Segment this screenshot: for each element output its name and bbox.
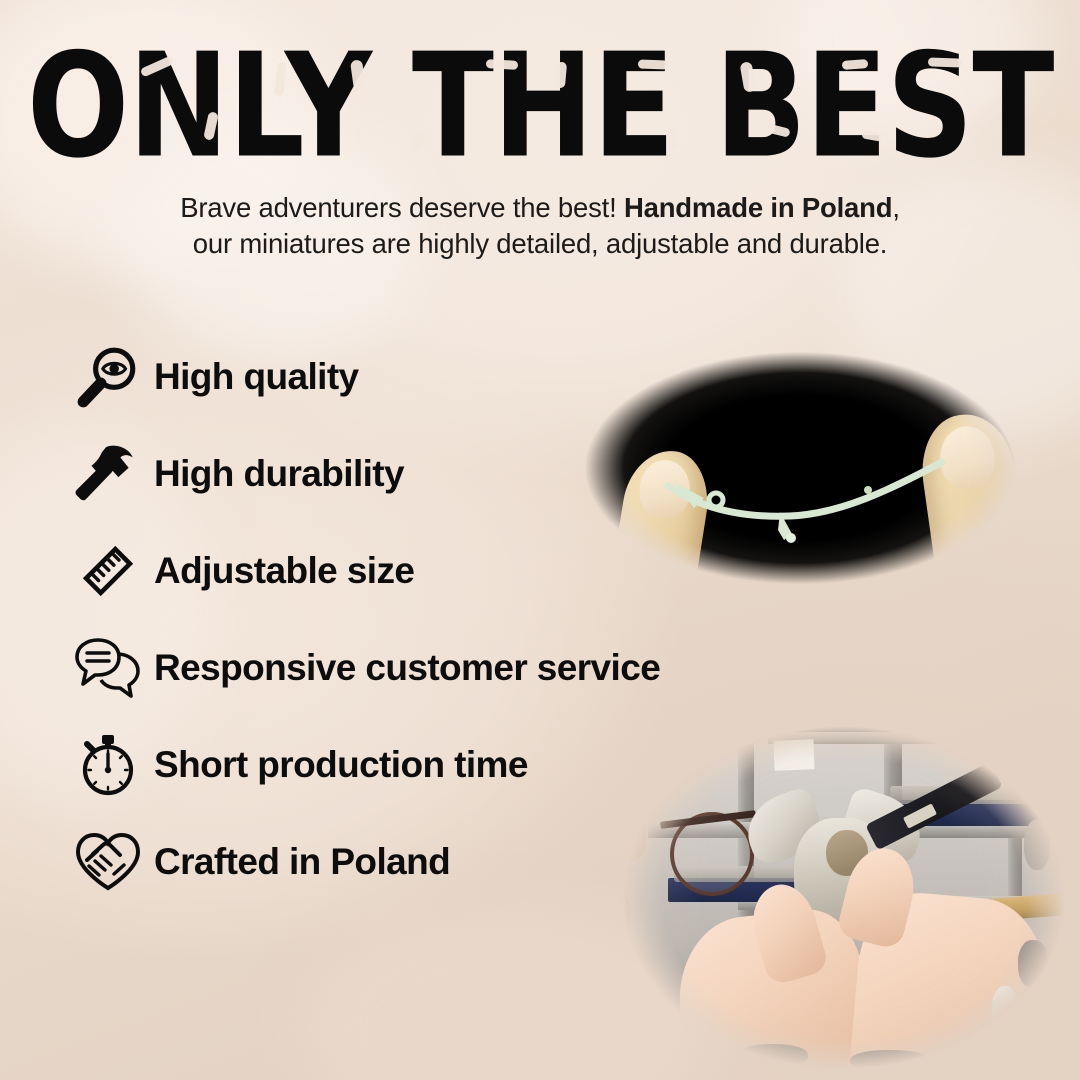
feature-label: Crafted in Poland [154,841,450,883]
feature-label: Short production time [154,744,528,786]
feature-label: Adjustable size [154,550,414,592]
page-title: ONLY THE BEST [27,36,1054,177]
miniature-parts [770,700,890,714]
feature-item-high-durability[interactable]: High durability [62,425,782,522]
feature-item-customer-service[interactable]: Responsive customer service [62,619,782,716]
promo-poster: ONLY THE BEST Brave adventurers deserve … [0,0,1080,1080]
subtitle-highlight: Handmade in Poland [624,192,892,223]
stopwatch-icon [62,726,154,804]
feature-label: High durability [154,453,404,495]
subtitle-line1-lead: Brave adventurers deserve the best! [180,192,624,223]
feature-item-adjustable-size[interactable]: Adjustable size [62,522,782,619]
ruler-icon [62,532,154,610]
heart-handshake-icon [62,823,154,901]
chat-bubbles-icon [62,629,154,707]
hammer-icon [62,435,154,513]
subtitle-line1-tail: , [892,192,899,223]
miniature-figure [992,986,1018,1032]
magnifier-eye-icon [62,338,154,416]
subtitle-line2: our miniatures are highly detailed, adju… [193,228,888,259]
feature-item-crafted-in-poland[interactable]: Crafted in Poland [62,813,782,910]
headline-container: ONLY THE BEST [0,36,1080,152]
subtitle: Brave adventurers deserve the best! Hand… [0,190,1080,263]
feature-item-high-quality[interactable]: High quality [62,328,782,425]
feature-item-production-time[interactable]: Short production time [62,716,782,813]
feature-label: High quality [154,356,359,398]
feature-label: Responsive customer service [154,647,660,689]
feature-list: High quality High durability [62,328,782,910]
